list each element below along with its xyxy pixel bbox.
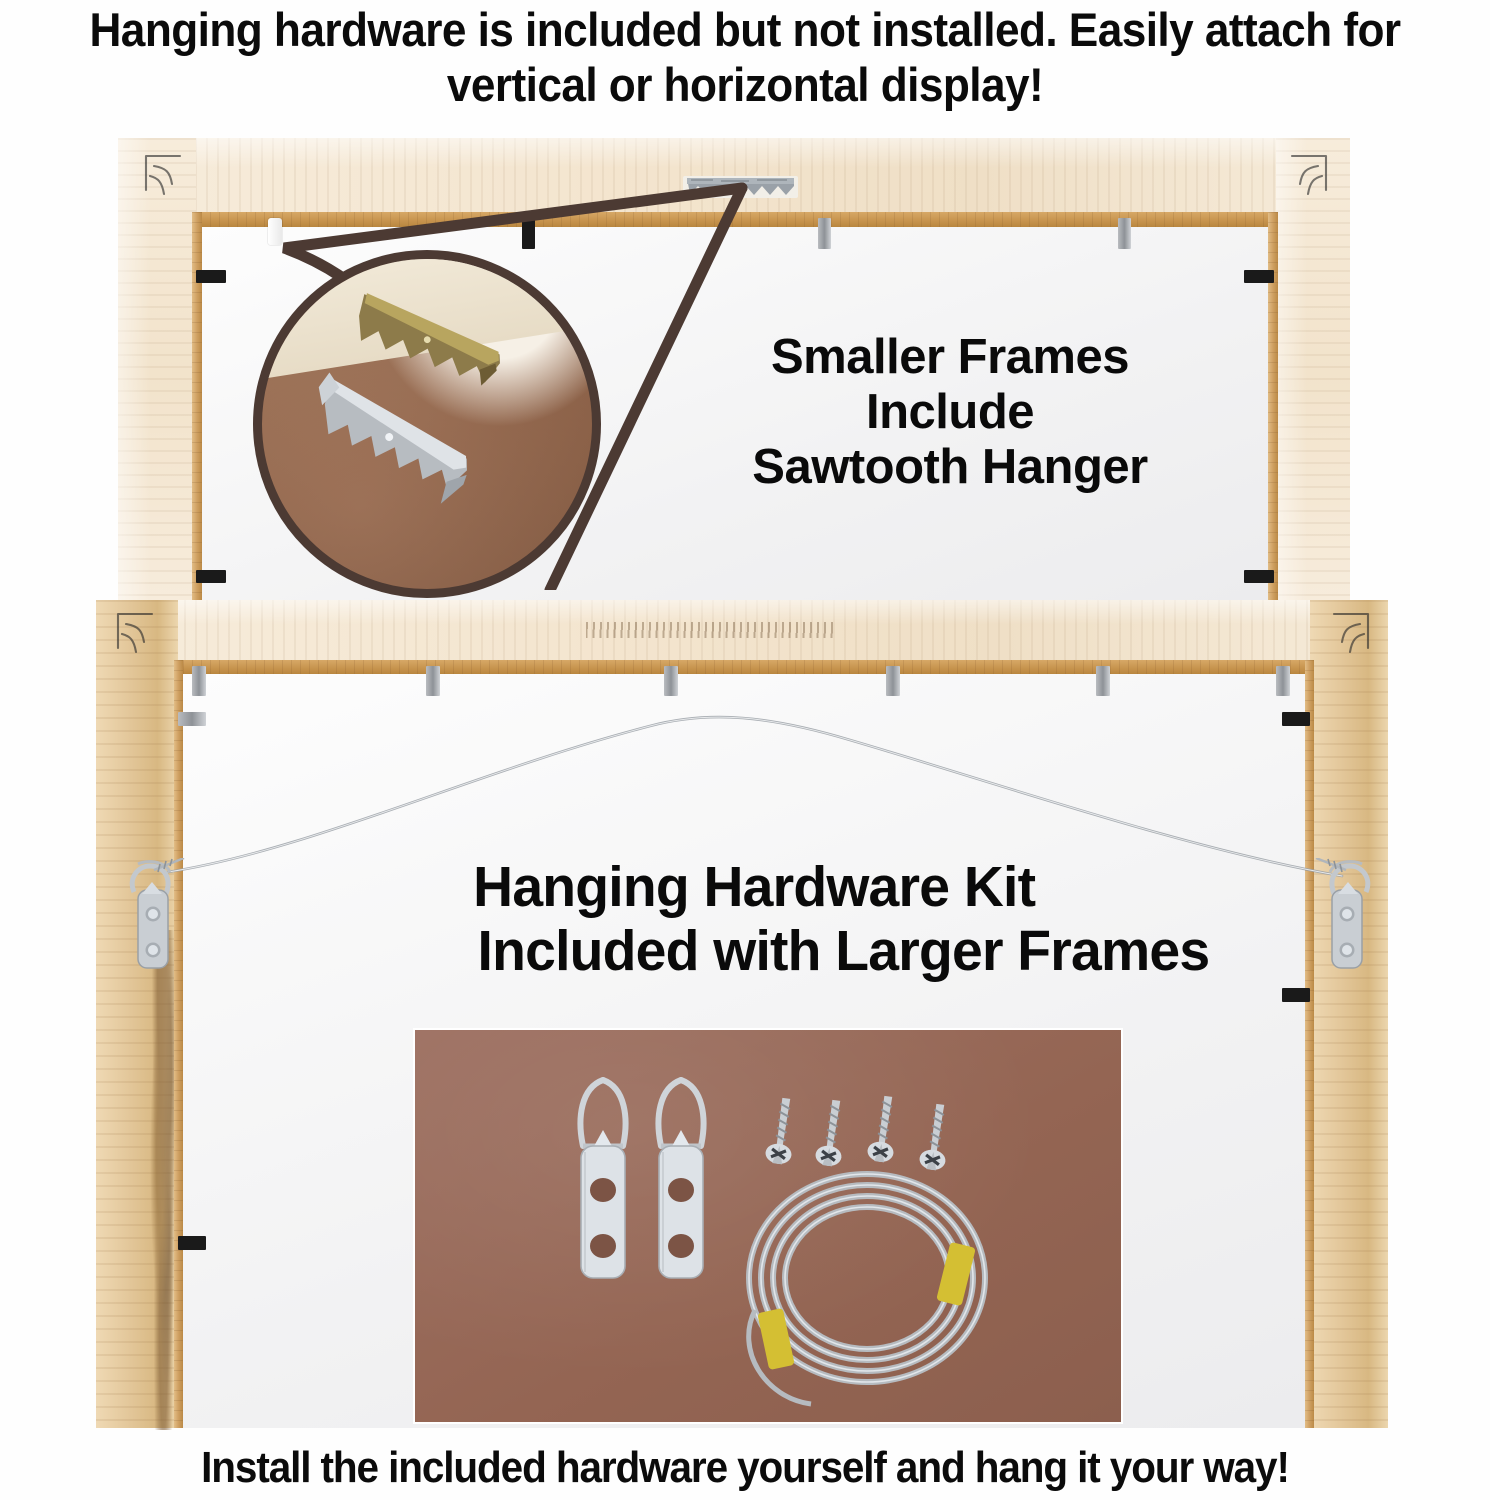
- footer-caption-text: Install the included hardware yourself a…: [60, 1444, 1431, 1492]
- frame-scuff-texture: [586, 622, 836, 638]
- hardware-kit-photo: [415, 1030, 1121, 1422]
- corner-bracket-icon: [1252, 150, 1332, 230]
- bottom-frame-callout-text: Hanging Hardware Kit Included with Large…: [318, 856, 1463, 984]
- top-frame-callout-text: Smaller Frames Include Sawtooth Hanger: [620, 330, 1280, 495]
- kit-d-ring-icon: [645, 1074, 717, 1286]
- sawtooth-hanger-on-frame-icon: [683, 174, 798, 200]
- backing-clip: [818, 218, 831, 249]
- bottom-frame-inner-lip: [174, 660, 1314, 674]
- headline-text: Hanging hardware is included but not ins…: [45, 2, 1446, 113]
- callout-line-1: Hanging Hardware Kit: [318, 856, 1191, 920]
- corner-bracket-icon: [112, 608, 192, 688]
- kit-d-ring-icon: [567, 1074, 639, 1286]
- callout-line-2: Include: [620, 385, 1280, 440]
- d-ring-hanger-left-icon: [124, 858, 188, 998]
- kit-wire-coil-icon: [735, 1160, 999, 1410]
- backing-clip: [268, 218, 282, 245]
- corner-bracket-icon: [1294, 608, 1374, 688]
- backing-clip: [196, 570, 226, 583]
- backing-clip: [426, 666, 440, 696]
- backing-clip: [664, 666, 678, 696]
- backing-clip: [178, 1236, 206, 1250]
- corner-bracket-icon: [140, 150, 220, 230]
- infographic-canvas: Hanging hardware is included but not ins…: [0, 0, 1490, 1500]
- backing-clip: [1096, 666, 1110, 696]
- callout-line-3: Sawtooth Hanger: [620, 440, 1280, 495]
- callout-line-2: Included with Larger Frames: [291, 920, 1397, 984]
- backing-clip: [1244, 270, 1274, 283]
- backing-clip: [196, 270, 226, 283]
- backing-clip: [1244, 570, 1274, 583]
- sawtooth-magnifier-callout: [253, 250, 601, 598]
- bottom-frame-inner-lip-left: [174, 660, 183, 1428]
- top-frame-inner-lip: [192, 212, 1278, 227]
- backing-clip: [886, 666, 900, 696]
- backing-clip: [522, 218, 535, 249]
- backing-clip: [1282, 712, 1310, 726]
- backing-clip: [1276, 666, 1290, 696]
- backing-clip: [1282, 988, 1310, 1002]
- backing-clip: [192, 666, 206, 696]
- bottom-frame-inner-lip-right: [1305, 660, 1314, 1428]
- backing-clip: [1118, 218, 1131, 249]
- backing-clip: [178, 712, 206, 726]
- callout-line-1: Smaller Frames: [620, 330, 1280, 385]
- bottom-frame-right-rail: [1310, 600, 1388, 1428]
